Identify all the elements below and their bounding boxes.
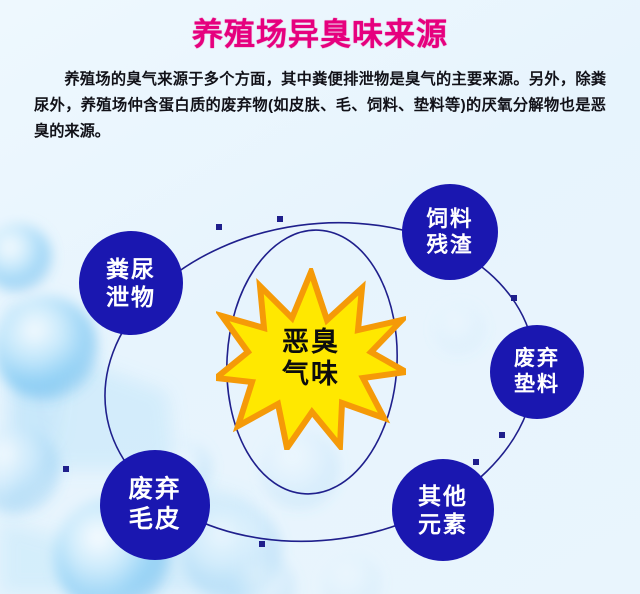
node-feed-line-2: 残渣 — [426, 232, 473, 258]
node-fur-line-2: 毛皮 — [129, 505, 182, 535]
node-other-line-2: 元素 — [418, 510, 468, 538]
node-feed-line-1: 饲料 — [426, 206, 473, 232]
node-feed-residue[interactable]: 饲料 残渣 — [402, 184, 498, 280]
node-manure-line-1: 粪尿 — [106, 255, 156, 283]
node-waste-bedding[interactable]: 废弃 垫料 — [490, 325, 584, 419]
node-fur-line-1: 废弃 — [129, 475, 182, 505]
infographic-page: 养殖场异臭味来源 养殖场的臭气来源于多个方面，其中粪便排泄物是臭气的主要来源。另… — [0, 0, 640, 594]
center-burst-label: 恶臭 气味 — [216, 268, 406, 450]
header: 养殖场异臭味来源 养殖场的臭气来源于多个方面，其中粪便排泄物是臭气的主要来源。另… — [0, 0, 640, 146]
page-title: 养殖场异臭味来源 — [0, 0, 640, 53]
node-bedding-line-1: 废弃 — [514, 346, 560, 372]
intro-paragraph: 养殖场的臭气来源于多个方面，其中粪便排泄物是臭气的主要来源。另外，除粪尿外，养殖… — [34, 67, 606, 145]
node-manure-excreta[interactable]: 粪尿 泄物 — [79, 231, 183, 335]
node-other-line-1: 其他 — [418, 482, 468, 510]
center-burst-line-1: 恶臭 — [282, 327, 340, 359]
node-waste-fur[interactable]: 废弃 毛皮 — [100, 450, 210, 560]
center-burst: 恶臭 气味 — [216, 268, 406, 450]
node-other-elements[interactable]: 其他 元素 — [392, 459, 494, 561]
node-bedding-line-2: 垫料 — [514, 372, 560, 398]
node-manure-line-2: 泄物 — [106, 283, 156, 311]
center-burst-line-2: 气味 — [282, 359, 340, 391]
